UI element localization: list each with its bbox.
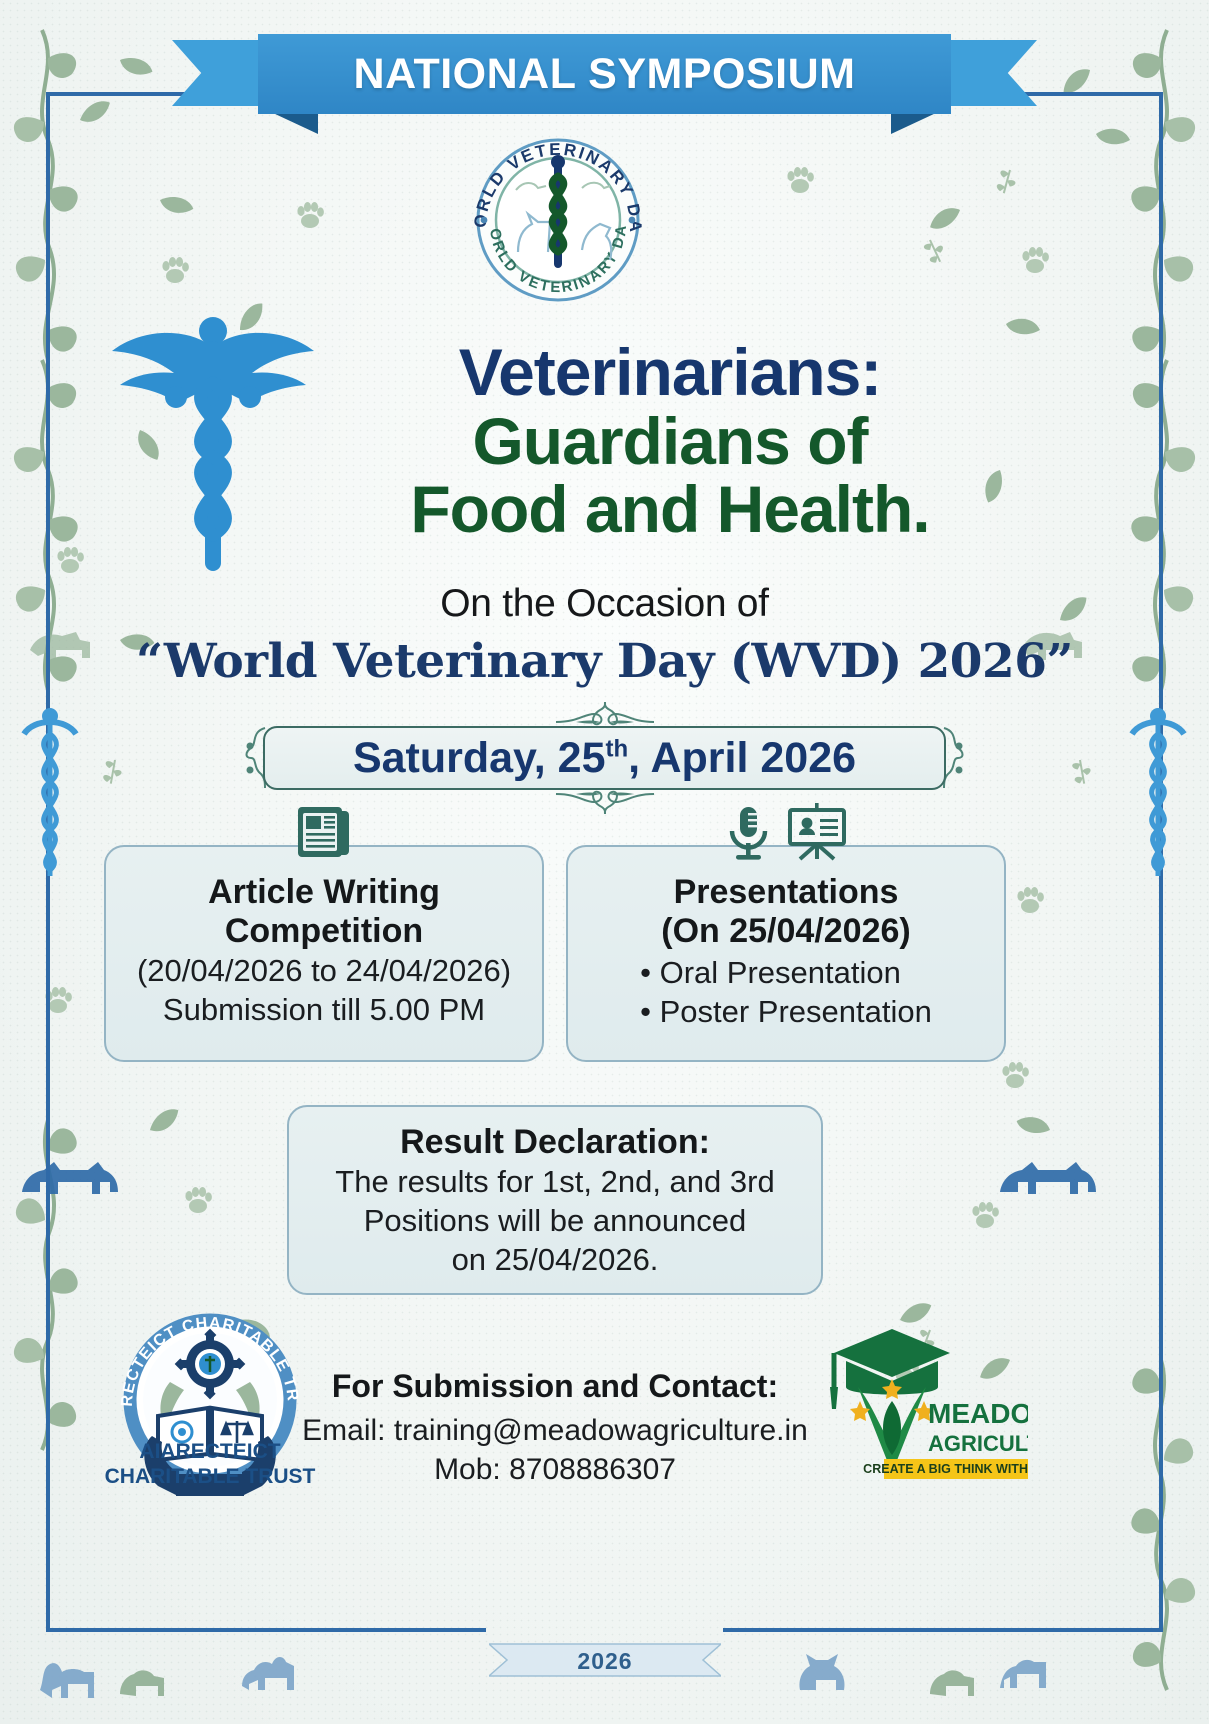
card-result-title: Result Declaration: bbox=[400, 1123, 710, 1162]
card-article-icons bbox=[106, 803, 542, 863]
card-article-dates: (20/04/2026 to 24/04/2026) bbox=[137, 951, 511, 990]
bullet-oral-label: Oral Presentation bbox=[660, 955, 901, 990]
frame-line-right bbox=[1159, 92, 1163, 1632]
footer-year-ribbon: 2026 bbox=[489, 1638, 721, 1680]
contact-mobile[interactable]: Mob: 8708886307 bbox=[255, 1450, 855, 1489]
headline-block: Veterinarians: Guardians of Food and Hea… bbox=[300, 338, 1040, 544]
date-ordinal: th bbox=[606, 735, 629, 762]
frame-line-bottom-right bbox=[723, 1628, 1163, 1632]
ribbon-tail-left bbox=[172, 40, 258, 106]
date-weekday: Saturday, bbox=[353, 734, 558, 782]
card-result-declaration: Result Declaration: The results for 1st,… bbox=[287, 1105, 823, 1295]
card-presentations-title-line2: (On 25/04/2026) bbox=[661, 912, 910, 951]
event-date-box: Saturday, 25th, April 2026 bbox=[263, 726, 946, 790]
event-date-plate: Saturday, 25th, April 2026 bbox=[241, 718, 968, 798]
card-result-line-2: Positions will be announced bbox=[364, 1201, 747, 1240]
presentation-board-icon bbox=[786, 803, 848, 863]
card-article-submission: Submission till 5.00 PM bbox=[163, 990, 485, 1029]
bullet-oral: • Oral Presentation bbox=[640, 953, 932, 993]
contact-email[interactable]: Email: training@meadowagriculture.in bbox=[255, 1411, 855, 1450]
svg-text:AGRICULTURE: AGRICULTURE bbox=[928, 1431, 1028, 1456]
card-article-title-line1: Article Writing bbox=[208, 873, 440, 912]
svg-text:CREATE A BIG THINK WITH US: CREATE A BIG THINK WITH US bbox=[863, 1462, 1028, 1476]
date-day: 25 bbox=[558, 734, 606, 782]
world-veterinary-day-logo: WORLD VETERINARY DAY WORLD VETERINARY DA… bbox=[460, 132, 656, 308]
microphone-icon bbox=[724, 803, 772, 863]
footer-year-text: 2026 bbox=[489, 1648, 721, 1675]
contact-block: For Submission and Contact: Email: train… bbox=[255, 1368, 855, 1489]
bullet-poster: • Poster Presentation bbox=[640, 992, 932, 1032]
ribbon-banner-body: NATIONAL SYMPOSIUM bbox=[258, 34, 951, 114]
date-rest: , April 2026 bbox=[628, 734, 856, 782]
frame-line-left bbox=[46, 92, 50, 1632]
poster-root: NATIONAL SYMPOSIUM WORLD VETERINARY DAY … bbox=[0, 0, 1209, 1724]
event-quoted-title: “World Veterinary Day (WVD) 2026” bbox=[0, 634, 1209, 689]
caduceus-icon-main bbox=[98, 305, 328, 585]
card-presentations-title-line1: Presentations bbox=[674, 873, 899, 912]
card-article-title-line2: Competition bbox=[225, 912, 423, 951]
ribbon-title-text: NATIONAL SYMPOSIUM bbox=[354, 50, 856, 99]
card-presentations: Presentations (On 25/04/2026) • Oral Pre… bbox=[566, 845, 1006, 1062]
ribbon-tail-right bbox=[951, 40, 1037, 106]
svg-text:MEADOW: MEADOW bbox=[928, 1398, 1028, 1429]
plate-flourish-top bbox=[554, 702, 656, 726]
newspaper-icon bbox=[293, 803, 355, 863]
event-date-text: Saturday, 25th, April 2026 bbox=[353, 734, 856, 783]
headline-line-3: Food and Health. bbox=[300, 475, 1040, 544]
card-result-line-3: on 25/04/2026. bbox=[452, 1240, 659, 1279]
bullet-poster-label: Poster Presentation bbox=[660, 994, 932, 1029]
card-result-line-1: The results for 1st, 2nd, and 3rd bbox=[335, 1162, 774, 1201]
contact-title: For Submission and Contact: bbox=[255, 1368, 855, 1405]
frame-line-bottom-left bbox=[46, 1628, 486, 1632]
card-presentations-bullets: • Oral Presentation • Poster Presentatio… bbox=[640, 953, 932, 1032]
national-symposium-ribbon: NATIONAL SYMPOSIUM bbox=[0, 26, 1209, 138]
caduceus-icon-right-border bbox=[1118, 700, 1198, 890]
headline-line-2: Guardians of bbox=[300, 407, 1040, 476]
headline-line-1: Veterinarians: bbox=[300, 338, 1040, 407]
card-article-writing: Article Writing Competition (20/04/2026 … bbox=[104, 845, 544, 1062]
card-presentations-icons bbox=[568, 803, 1004, 863]
occasion-label: On the Occasion of bbox=[0, 582, 1209, 626]
caduceus-icon-left-border bbox=[10, 700, 90, 890]
